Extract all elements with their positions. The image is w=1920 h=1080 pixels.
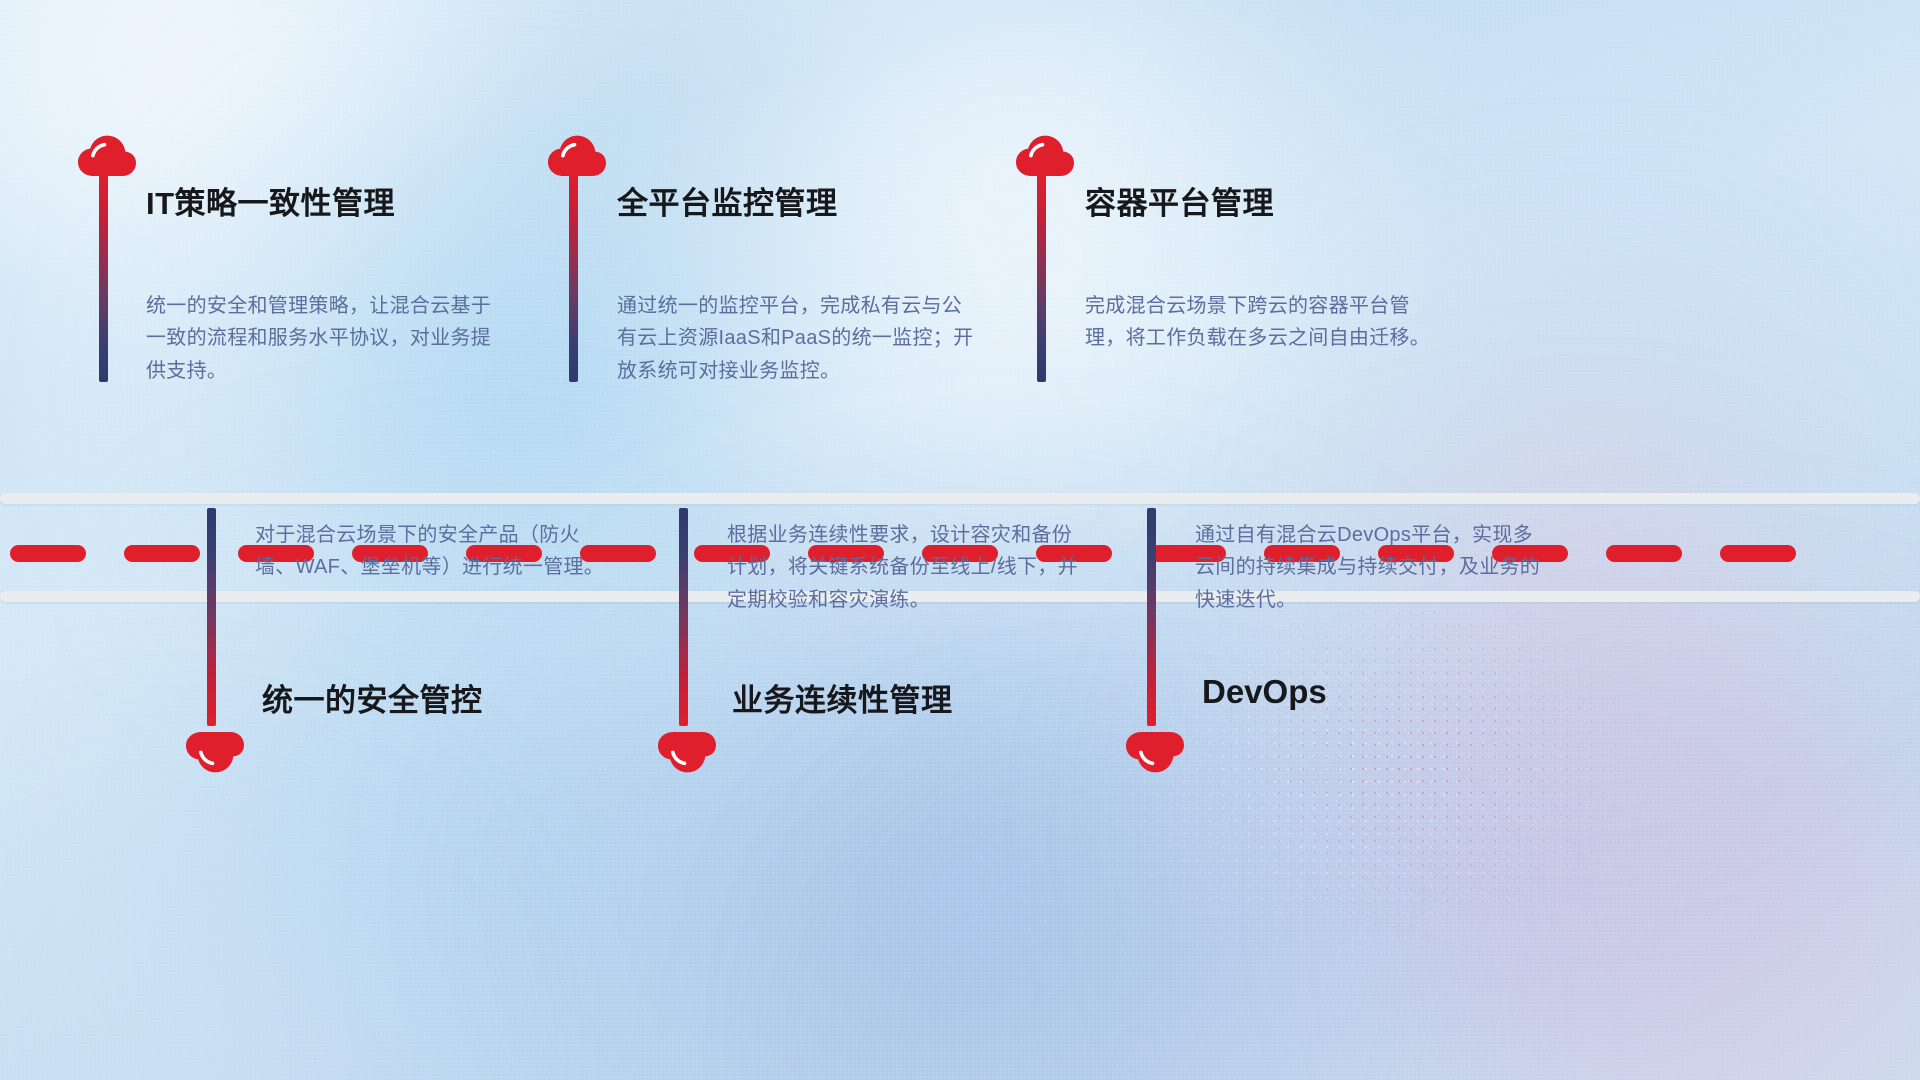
cloud-icon <box>546 129 608 177</box>
pin-stem <box>1037 172 1046 382</box>
pin-body: 完成混合云场景下跨云的容器平台管理，将工作负载在多云之间自由迁移。 <box>1085 290 1437 355</box>
pin-stem <box>99 172 108 382</box>
divider-dash <box>10 545 86 562</box>
divider-rule-top <box>0 493 1920 504</box>
pin-stem <box>569 172 578 382</box>
pin-title: 全平台监控管理 <box>617 178 838 223</box>
cloud-icon <box>656 731 718 779</box>
pin-title: 统一的安全管控 <box>262 675 483 720</box>
pin-stem <box>1147 508 1156 726</box>
pin-title: 容器平台管理 <box>1085 178 1274 223</box>
pin-body: 根据业务连续性要求，设计容灾和备份计划，将关键系统备份至线上/线下，并定期校验和… <box>727 519 1079 616</box>
divider-dash <box>1606 545 1682 562</box>
divider-dash <box>1720 545 1796 562</box>
pin-body: 通过统一的监控平台，完成私有云与公有云上资源IaaS和PaaS的统一监控；开放系… <box>617 290 977 387</box>
pin-stem <box>679 508 688 726</box>
pin-title: IT策略一致性管理 <box>146 178 395 223</box>
pin-title: DevOps <box>1202 673 1327 711</box>
cloud-icon <box>184 731 246 779</box>
cloud-icon <box>1124 731 1186 779</box>
divider-dash <box>124 545 200 562</box>
pin-stem <box>207 508 216 726</box>
pin-body: 通过自有混合云DevOps平台，实现多云间的持续集成与持续交付，及业务的快速迭代… <box>1195 519 1547 616</box>
pin-body: 统一的安全和管理策略，让混合云基于一致的流程和服务水平协议，对业务提供支持。 <box>146 290 498 387</box>
cloud-icon <box>1014 129 1076 177</box>
cloud-icon <box>76 129 138 177</box>
pin-title: 业务连续性管理 <box>732 675 953 720</box>
pin-body: 对于混合云场景下的安全产品（防火墙、WAF、堡垒机等）进行统一管理。 <box>255 519 607 584</box>
